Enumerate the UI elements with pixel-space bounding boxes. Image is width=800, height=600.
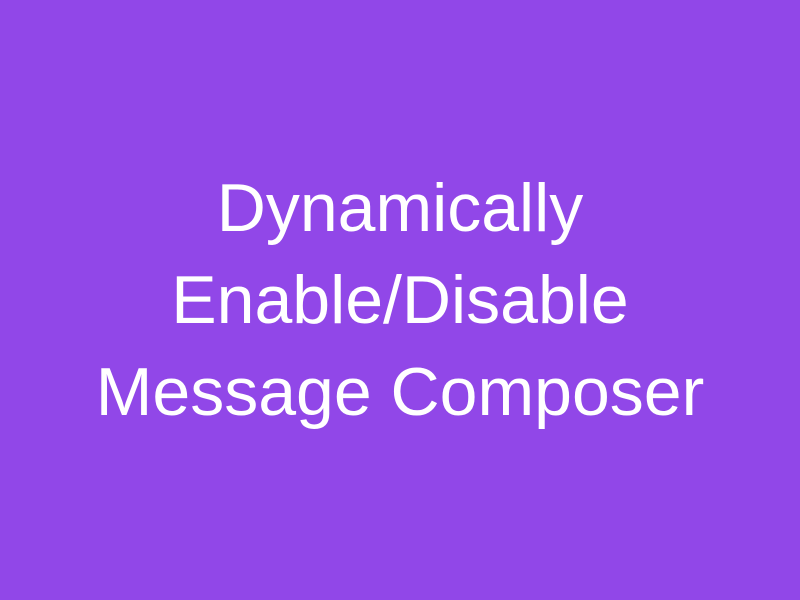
slide-title-line-1: Dynamically — [28, 162, 772, 254]
slide-title-line-3: Message Composer — [28, 346, 772, 438]
slide-title-block: Dynamically Enable/Disable Message Compo… — [20, 162, 780, 438]
title-slide-canvas: Dynamically Enable/Disable Message Compo… — [0, 0, 800, 600]
slide-title-line-2: Enable/Disable — [28, 254, 772, 346]
